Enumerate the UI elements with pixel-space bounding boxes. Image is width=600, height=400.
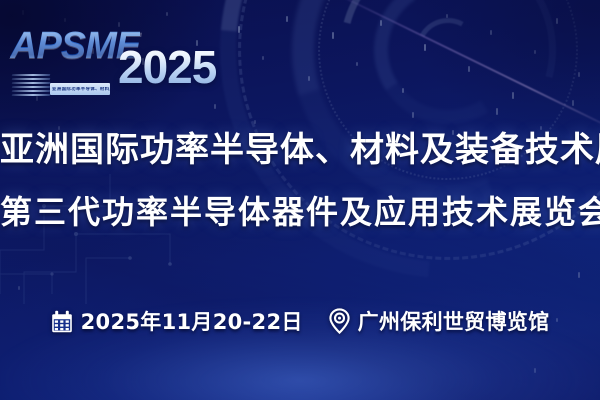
apsme-logo-icon: APSME 亚洲国际功率半导体、材料及装备技术展览会 — [8, 26, 112, 98]
location-pin-icon — [329, 308, 350, 334]
headline-block: 亚洲国际功率半导体、材料及装备技术展览会 第三代功率半导体器件及应用技术展览会 — [0, 126, 600, 236]
logo-bars-icon — [12, 72, 50, 96]
logo-year: 2025 — [118, 44, 216, 90]
headline-line-2: 第三代功率半导体器件及应用技术展览会 — [0, 188, 600, 236]
logo-subtext: 亚洲国际功率半导体、材料及装备技术展览会 — [52, 87, 110, 93]
date-text: 2025年11月20-22日 — [81, 306, 303, 336]
date-info: 2025年11月20-22日 — [51, 306, 303, 336]
headline-line-1: 亚洲国际功率半导体、材料及装备技术展览会 — [0, 126, 600, 174]
venue-info: 广州保利世贸博览馆 — [329, 306, 550, 336]
info-bar: 2025年11月20-22日 广州保利世贸博览馆 — [0, 306, 600, 336]
banner-content: APSME 亚洲国际功率半导体、材料及装备技术展览会 2025 亚洲国际功率半导… — [0, 0, 600, 400]
venue-text: 广州保利世贸博览馆 — [358, 306, 550, 336]
calendar-icon — [51, 310, 73, 333]
exhibition-banner: APSME 亚洲国际功率半导体、材料及装备技术展览会 2025 亚洲国际功率半导… — [0, 0, 600, 400]
logo-lockup: APSME 亚洲国际功率半导体、材料及装备技术展览会 2025 — [8, 22, 216, 98]
